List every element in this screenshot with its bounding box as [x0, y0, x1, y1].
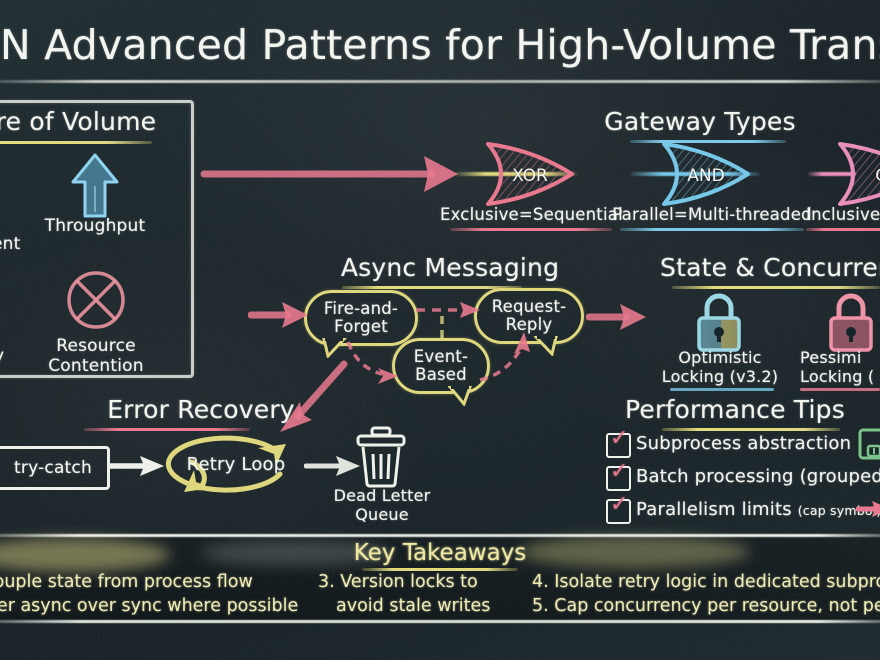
- gateway-xor-label: XOR: [484, 140, 576, 212]
- async-curve-right-icon: [472, 328, 536, 392]
- optimistic-locking-underline: [670, 388, 774, 391]
- async-heading: Async Messaging: [300, 254, 600, 282]
- check-mark-3: ✓: [610, 494, 628, 516]
- gateway-and[interactable]: AND: [660, 140, 752, 212]
- state-heading: State & Concurren: [660, 254, 880, 282]
- gateway-and-label: AND: [660, 140, 752, 212]
- try-catch-box[interactable]: try-catch: [0, 446, 110, 490]
- perf-tip-3: Parallelism limits (cap symbol): [636, 499, 880, 522]
- error-heading-underline: [84, 428, 250, 431]
- gateway-and-caption: Parallel=Multi-threaded: [612, 205, 812, 224]
- dead-letter-queue-label: Dead Letter Queue: [318, 486, 446, 524]
- arrow-trycatch-to-retry-icon: [108, 452, 166, 484]
- page-title: N Advanced Patterns for High-Volume Tran…: [0, 22, 880, 68]
- resource-contention-line2: Contention: [48, 356, 144, 376]
- cap-symbol-arrow-icon: [856, 498, 880, 524]
- footer-top-divider: [0, 534, 880, 537]
- gateway-or-label: O: [836, 140, 880, 212]
- bubble-fire-and-forget-text: Fire-and- Forget: [324, 300, 398, 336]
- resource-contention-label: Resource Contention: [20, 336, 172, 376]
- perf-tip-3-text: Parallelism limits: [636, 499, 798, 520]
- takeaway-4: 4. Isolate retry logic in dedicated subp…: [532, 570, 880, 595]
- panel-heading: cture of Volume: [0, 108, 174, 136]
- state-heading-underline: [672, 286, 880, 289]
- try-catch-label: try-catch: [14, 458, 92, 478]
- panel-heading-underline: [0, 141, 152, 144]
- retry-loop-label: Retry Loop: [168, 454, 304, 475]
- subprocess-box-icon[interactable]: [858, 428, 880, 464]
- perf-heading: Performance Tips: [600, 396, 870, 424]
- perf-tip-1: Subprocess abstraction: [636, 433, 851, 455]
- title-divider: [0, 80, 880, 83]
- up-arrow-icon: [70, 152, 120, 224]
- key-takeaways-heading: Key Takeaways: [0, 540, 880, 566]
- pessimistic-locking-label: Pessimi Locking (: [800, 348, 880, 386]
- bubble-tail-request-icon: [534, 336, 560, 360]
- clipped-label-latency: y: [0, 346, 34, 366]
- gateway-or-caption-underline: [806, 228, 880, 231]
- pessimistic-locking-underline: [800, 388, 880, 391]
- no-entry-crossed-circle-icon: [64, 268, 128, 336]
- check-mark-1: ✓: [610, 428, 628, 450]
- clipped-label-concurrent: ent: [0, 234, 40, 254]
- takeaway-3: 3. Version locks to: [318, 570, 478, 595]
- perf-heading-underline: [662, 428, 840, 431]
- throughput-label: Throughput: [20, 216, 170, 236]
- async-curve-left-icon: [344, 338, 408, 394]
- gateway-xor[interactable]: XOR: [484, 140, 576, 212]
- flow-arrow-to-async-icon: [248, 298, 310, 336]
- flow-arrow-to-gateways-icon: [200, 152, 460, 200]
- footer-bottom-divider: [0, 620, 880, 623]
- gateway-xor-caption-underline: [450, 228, 612, 231]
- takeaway-5: 5. Cap concurrency per resource, not per…: [532, 594, 880, 619]
- gateway-or[interactable]: O: [836, 140, 880, 212]
- gateway-or-caption: Inclusive: [806, 205, 880, 224]
- perf-tip-2: Batch processing (grouped it: [636, 466, 880, 488]
- resource-contention-line1: Resource: [56, 336, 136, 356]
- gateway-and-caption-underline: [620, 228, 804, 231]
- gateway-xor-caption: Exclusive=Sequential: [440, 205, 620, 224]
- error-heading: Error Recovery: [56, 396, 346, 424]
- flow-arrow-to-state-icon: [586, 300, 648, 338]
- takeaway-2: efer async over sync where possible: [0, 594, 298, 619]
- optimistic-locking-label: Optimistic Locking (v3.2): [658, 348, 782, 386]
- gateways-heading: Gateway Types: [560, 108, 840, 136]
- takeaway-1: couple state from process flow: [0, 570, 253, 595]
- check-mark-2: ✓: [610, 461, 628, 483]
- trash-can-icon: [350, 424, 412, 494]
- takeaway-3-cont: avoid stale writes: [336, 594, 490, 619]
